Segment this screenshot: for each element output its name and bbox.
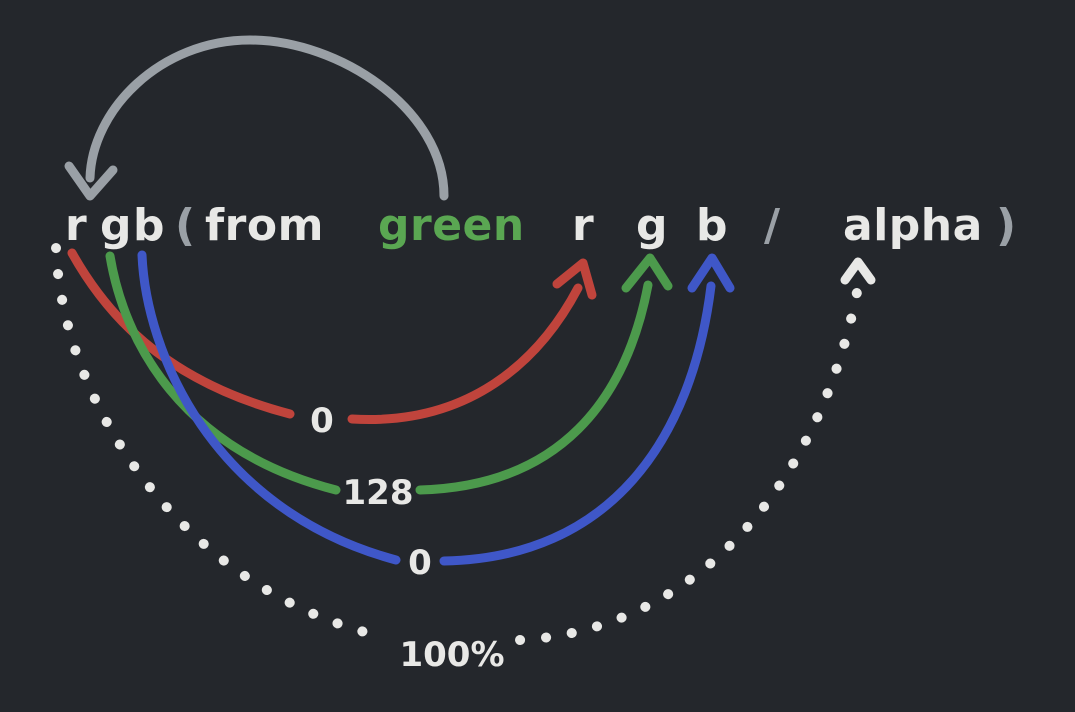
origin-to-output-path: [90, 40, 444, 196]
label-green-value: 128: [343, 473, 414, 513]
token-out-r: r: [65, 200, 87, 251]
label-blue-value: 0: [408, 543, 432, 583]
token-chan-alpha: alpha: [843, 200, 983, 251]
label-alpha-value: 100%: [399, 635, 504, 675]
token-chan-b: b: [696, 200, 728, 251]
token-out-b: b: [133, 200, 165, 251]
token-chan-r: r: [572, 200, 594, 251]
token-paren-open: (: [175, 200, 196, 251]
code-line: r g b ( from green r g b / alpha ): [65, 200, 1017, 251]
alpha-channel-arrowhead: [845, 262, 871, 280]
token-keyword-from: from: [205, 200, 324, 251]
connection-r-channel: [72, 253, 592, 420]
token-paren-close: ): [996, 200, 1017, 251]
alpha-channel-path-right: [520, 292, 857, 640]
label-red-value: 0: [310, 401, 334, 441]
connection-origin-to-output: [69, 40, 444, 196]
token-out-g: g: [100, 200, 132, 251]
token-chan-g: g: [636, 200, 668, 251]
connection-alpha-channel: [56, 248, 871, 640]
diagram-canvas: r g b ( from green r g b / alpha ) 0 128…: [0, 0, 1075, 712]
token-slash: /: [764, 200, 781, 251]
g-channel-path-right: [420, 285, 648, 490]
token-origin-color: green: [378, 200, 525, 251]
relative-color-syntax-diagram: r g b ( from green r g b / alpha ) 0 128…: [0, 0, 1075, 712]
r-channel-path-right: [352, 288, 578, 420]
